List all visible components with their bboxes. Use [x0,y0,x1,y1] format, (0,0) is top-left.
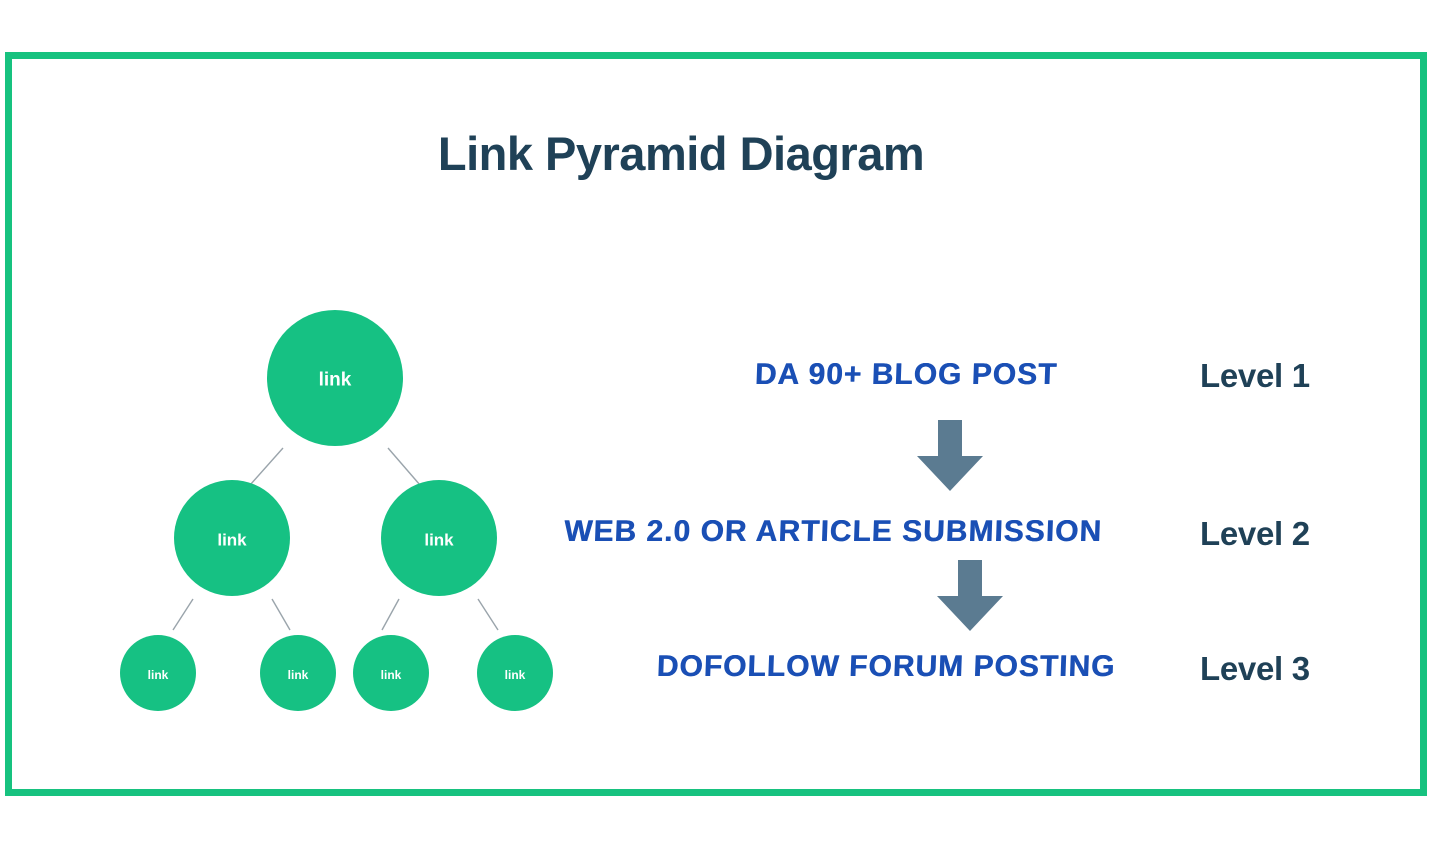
flow-stage-3-label: DOFOLLOW FORUM POSTING [635,650,1136,684]
pyramid-node-l3-2[interactable]: link [260,635,336,711]
connector-l2-l3-c [382,599,399,630]
node-label: link [319,370,352,391]
connector-l2-l3-a [173,599,193,630]
node-label: link [288,668,309,682]
level-label-3: Level 3 [1200,650,1400,688]
level-label-1: Level 1 [1200,357,1400,395]
connector-l2-l3-d [478,599,498,630]
pyramid-node-l3-1[interactable]: link [120,635,196,711]
node-label: link [148,668,169,682]
arrow-down-icon-2 [933,560,1007,632]
arrow-shape [917,420,983,491]
pyramid-node-l2-1[interactable]: link [174,480,290,596]
node-label: link [424,531,454,550]
page-title: Link Pyramid Diagram [0,126,1362,181]
connector-l2-l3-b [272,599,290,630]
level-label-2: Level 2 [1200,515,1400,553]
pyramid-node-l3-4[interactable]: link [477,635,553,711]
connector-l1-l2-left [250,448,283,485]
node-label: link [381,668,402,682]
flow-stage-1-label: DA 90+ BLOG POST [675,358,1136,392]
node-label: link [217,531,247,550]
arrow-shape [937,560,1003,631]
pyramid-node-l1-1[interactable]: link [267,310,403,446]
node-label: link [505,668,526,682]
connector-l1-l2-right [388,448,420,485]
diagram-canvas: Link Pyramid Diagram link link [0,0,1440,865]
link-pyramid: link link link link link link [100,300,600,730]
flow-stage-2-label: WEB 2.0 OR ARTICLE SUBMISSION [529,515,1136,549]
pyramid-node-l2-2[interactable]: link [381,480,497,596]
arrow-down-icon-1 [913,420,987,492]
pyramid-node-l3-3[interactable]: link [353,635,429,711]
